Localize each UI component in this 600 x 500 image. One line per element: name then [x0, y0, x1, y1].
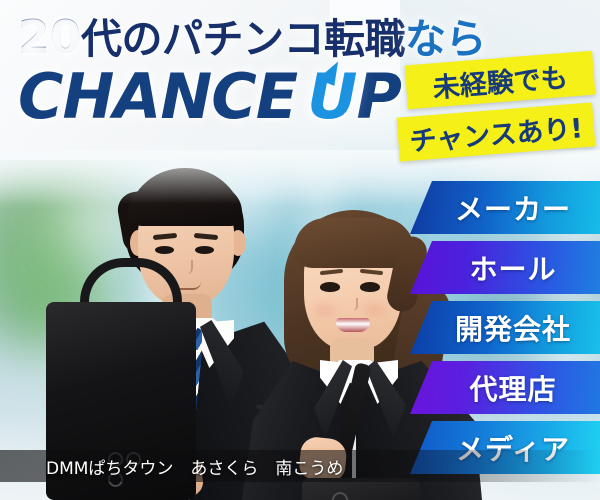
woman-cheek-right: [364, 304, 386, 316]
headline-number: 20: [18, 10, 81, 64]
category-label: メーカー: [439, 188, 571, 228]
man-nose: [182, 260, 193, 274]
logo-word-chance: CHANCE: [18, 60, 297, 133]
category-button-maker[interactable]: メーカー: [410, 181, 600, 234]
category-label: 代理店: [453, 368, 556, 408]
woman-nose: [348, 298, 358, 311]
woman-smile: [336, 318, 370, 332]
ribbon-chance-available: チャンスあり!: [397, 102, 596, 161]
category-button-developer[interactable]: 開発会社: [410, 301, 600, 354]
category-label: ホール: [453, 248, 556, 288]
ribbon-no-experience: 未経験でも: [405, 51, 596, 110]
credit-bar: DMMぱちタウン あさくら 南こうめ: [0, 450, 600, 482]
woman-fringe: [294, 218, 414, 268]
promo-banner: 20代のパチンコ転職なら CHANCEUP 未経験でも チャンスあり! メーカー…: [0, 0, 600, 500]
credit-text: DMMぱちタウン あさくら 南こうめ: [0, 454, 343, 479]
man-eye-left: [155, 246, 174, 254]
man-fringe: [128, 186, 242, 226]
logo-letter-p: P: [356, 60, 400, 133]
category-label: 開発会社: [439, 308, 571, 348]
woman-cheek-left: [314, 304, 336, 316]
chance-up-logo: CHANCEUP: [18, 66, 438, 128]
headline-block: 20代のパチンコ転職なら CHANCEUP: [18, 14, 438, 128]
woman-eye-left: [320, 282, 340, 292]
highlight-ribbons: 未経験でも チャンスあり!: [398, 58, 598, 164]
category-list: メーカー ホール 開発会社 代理店 メディア: [410, 181, 600, 481]
category-button-agency[interactable]: 代理店: [410, 361, 600, 414]
logo-letter-u-wrap: U: [307, 66, 356, 128]
man-eye-right: [195, 246, 214, 254]
headline-line-1: 20代のパチンコ転職なら: [18, 14, 438, 60]
headline-tail: なら: [405, 15, 486, 63]
headline-japanese: 代のパチンコ転職: [81, 15, 405, 63]
woman-eye-right: [360, 282, 380, 292]
category-button-hall[interactable]: ホール: [410, 241, 600, 294]
